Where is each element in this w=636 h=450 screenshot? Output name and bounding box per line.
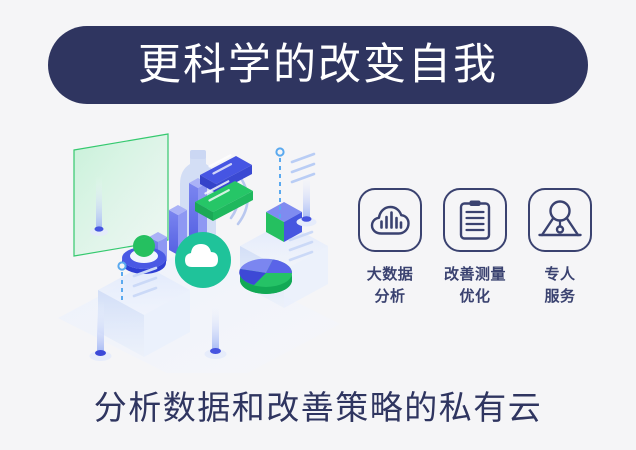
feature-label-measurement: 改善测量 优化: [444, 264, 506, 308]
clipboard-icon: [443, 188, 507, 252]
feature-label-line2: 服务: [544, 286, 575, 308]
feature-label-line1: 大数据: [367, 265, 414, 283]
isometric-data-platform-illustration: [40, 128, 360, 373]
feature-label-line1: 专人: [544, 265, 575, 283]
feature-item-big-data[interactable]: 大数据 分析: [352, 188, 428, 308]
feature-label-line2: 分析: [367, 286, 414, 308]
feature-item-support[interactable]: 专人 服务: [522, 188, 598, 308]
dash-marks-top: [292, 154, 314, 182]
banner-canvas: 更科学的改变自我 大数据 分析: [0, 0, 636, 450]
pie-chart-3d: [239, 259, 292, 294]
header-banner: 更科学的改变自我: [48, 26, 588, 104]
feature-label-big-data: 大数据 分析: [367, 264, 414, 308]
feature-list: 大数据 分析 改善测量 优化: [352, 188, 598, 333]
teal-cloud-badge: [175, 232, 231, 288]
support-agent-icon: [528, 188, 592, 252]
feature-label-line1: 改善测量: [444, 265, 506, 283]
feature-label-line2: 优化: [444, 286, 506, 308]
cloud-bar-chart-icon: [358, 188, 422, 252]
page-title: 更科学的改变自我: [138, 44, 498, 87]
feature-label-support: 专人 服务: [544, 264, 575, 308]
feature-item-measurement[interactable]: 改善测量 优化: [437, 188, 513, 308]
footer-tagline: 分析数据和改善策略的私有云: [0, 388, 636, 428]
